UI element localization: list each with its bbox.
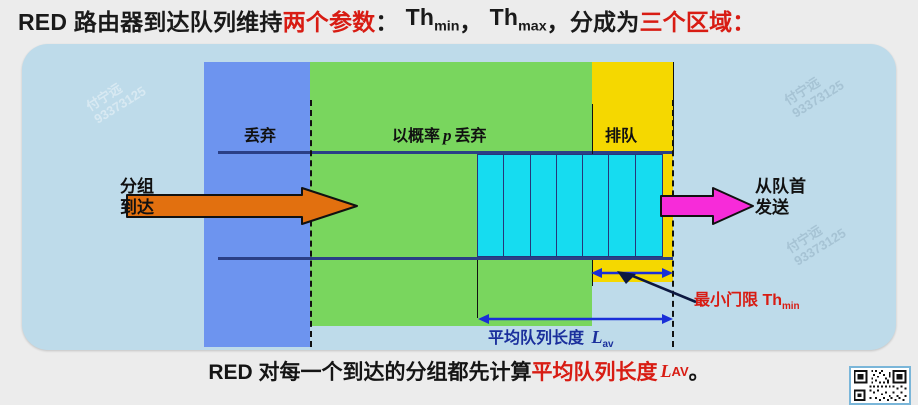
queue-cell	[635, 154, 663, 257]
headline-emphasis-regions: 三个区域	[639, 3, 732, 37]
watermark-line1: 付宁远	[783, 222, 824, 255]
page-title: RED 路由器到达队列维持两个参数：Thmin，Thmax，分成为三个区域：	[18, 3, 908, 36]
queue-cell	[582, 154, 610, 257]
prob-label-b: 丢弃	[455, 128, 487, 145]
headline-comma-2: ，	[547, 3, 570, 37]
bottom-caption: RED 对每一个到达的分组都先计算平均队列长度LAV。	[0, 354, 918, 388]
measure-label-thmin: 最小门限 Thmin	[694, 286, 800, 312]
thmax-sub: max	[518, 19, 547, 35]
region-label-probabilistic: 以概率p丢弃	[392, 122, 487, 146]
headline-mid: 分成为	[570, 3, 640, 37]
depart-line-2: 发送	[755, 197, 806, 218]
depart-line-1: 从队首	[755, 177, 806, 196]
diagram-stage: 付宁远 93373125 付宁远 93373125 付宁远 93373125 付…	[22, 44, 896, 350]
thmin-sub: min	[434, 19, 459, 35]
prob-symbol-p: p	[440, 126, 455, 145]
queue-rail-top	[218, 151, 673, 154]
watermark-line2: 93373125	[91, 83, 148, 126]
headline-param-thmin: Thmin	[406, 4, 460, 35]
caption-symbol-sub: AV	[672, 364, 689, 379]
lav-symbol-sub: av	[602, 339, 613, 350]
thmax-base: Th	[490, 4, 519, 30]
arrive-line-1: 分组	[120, 177, 154, 196]
watermark: 付宁远 93373125	[84, 71, 149, 127]
watermark-line1: 付宁远	[781, 74, 822, 107]
measure-label-lav: 平均队列长度 Lav	[488, 324, 613, 350]
caption-symbol: L	[658, 361, 672, 382]
thmin-text: 最小门限	[694, 292, 762, 309]
tick-lav-left	[477, 260, 478, 318]
headline-colon-2: ：	[732, 3, 755, 37]
thmin-symbol: Th	[762, 292, 782, 309]
thmin-symbol-sub: min	[782, 301, 800, 312]
qr-code-icon	[851, 368, 909, 403]
lav-symbol: L	[588, 327, 602, 347]
headline-emphasis-params: 两个参数	[283, 3, 376, 37]
thmin-base: Th	[406, 4, 435, 30]
watermark-line2: 93373125	[789, 77, 846, 120]
caption-emphasis: 平均队列长度	[532, 356, 658, 386]
queue-cell	[608, 154, 636, 257]
watermark: 付宁远 93373125	[784, 213, 849, 269]
divider-line-enqueue-left	[592, 104, 593, 154]
region-label-enqueue: 排队	[605, 122, 637, 146]
lav-text: 平均队列长度	[488, 330, 588, 347]
headline-lead: RED 路由器到达队列维持	[18, 3, 283, 37]
headline-colon-1: ：	[375, 3, 398, 37]
arrive-line-2: 到达	[120, 197, 154, 218]
headline-param-thmax: Thmax	[490, 4, 547, 35]
queue-rail-bottom	[218, 257, 673, 260]
watermark-line2: 93373125	[791, 225, 848, 268]
headline-comma-1: ，	[459, 3, 482, 37]
label-packet-send: 从队首 发送	[755, 176, 806, 219]
watermark-line1: 付宁远	[83, 80, 124, 113]
caption-lead: RED 对每一个到达的分组都先计算	[208, 356, 531, 386]
watermark: 付宁远 93373125	[782, 65, 847, 121]
queue-cell	[556, 154, 584, 257]
prob-label-a: 以概率	[392, 128, 440, 145]
caption-period: 。	[689, 356, 710, 386]
label-packet-arrival: 分组 到达	[120, 176, 154, 219]
queue-cells	[477, 154, 663, 257]
region-label-discard: 丢弃	[244, 122, 276, 146]
packet-send-arrow-icon	[660, 187, 754, 225]
slide-root: RED 路由器到达队列维持两个参数：Thmin，Thmax，分成为三个区域： 付…	[0, 0, 918, 405]
qr-code[interactable]	[849, 366, 911, 405]
packet-arrival-arrow-icon	[126, 187, 358, 225]
queue-cell	[477, 154, 505, 257]
queue-cell	[503, 154, 531, 257]
queue-cell	[530, 154, 558, 257]
callout-pointer-thmin-icon	[616, 270, 698, 304]
